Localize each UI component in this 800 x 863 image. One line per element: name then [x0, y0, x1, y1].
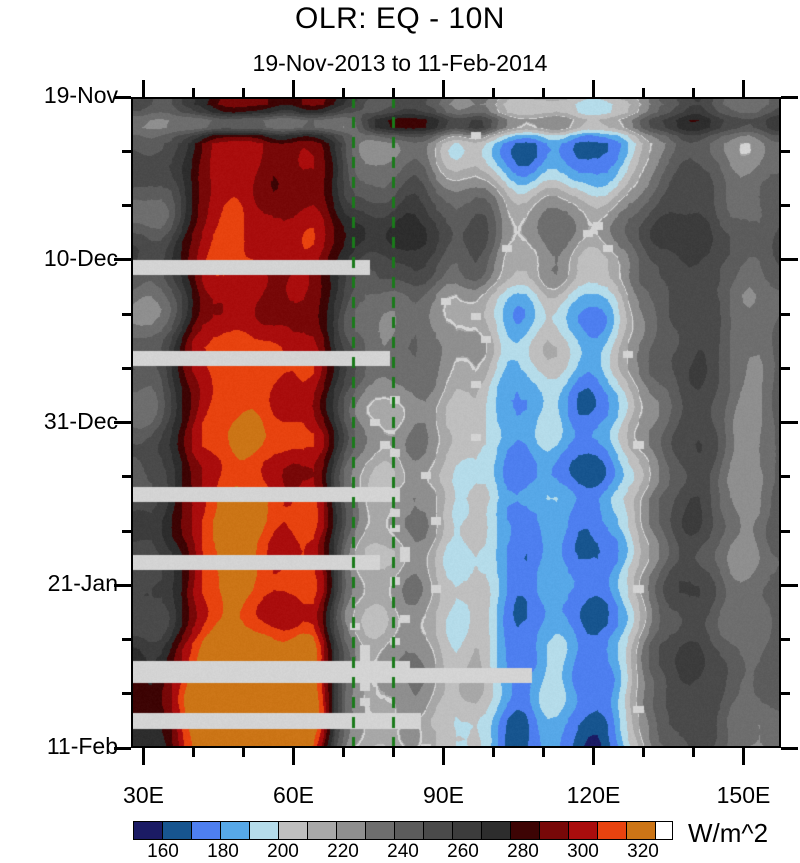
axis-tick [114, 584, 131, 587]
axis-tick [114, 747, 131, 750]
colorbar-cell[interactable] [568, 821, 598, 840]
x-axis-label: 90E [384, 782, 504, 809]
axis-tick [122, 475, 131, 478]
axis-tick [392, 88, 395, 97]
axis-tick [781, 584, 798, 587]
x-axis: 30E60E90E120E150E [0, 0, 800, 863]
axis-tick [142, 748, 145, 765]
axis-tick [781, 638, 790, 641]
axis-tick [114, 258, 131, 261]
axis-tick [342, 88, 345, 97]
axis-tick [781, 530, 790, 533]
colorbar-cell[interactable] [220, 821, 250, 840]
axis-tick [781, 692, 790, 695]
axis-tick [781, 150, 790, 153]
axis-tick [242, 88, 245, 97]
axis-tick [122, 313, 131, 316]
axis-tick [542, 748, 545, 757]
axis-tick [122, 150, 131, 153]
colorbar-cell[interactable] [278, 821, 308, 840]
axis-tick [592, 748, 595, 765]
axis-tick [592, 80, 595, 97]
axis-tick [292, 80, 295, 97]
axis-tick [242, 748, 245, 757]
axis-tick [781, 421, 798, 424]
axis-tick [292, 748, 295, 765]
colorbar-cell[interactable] [191, 821, 221, 840]
axis-tick [192, 88, 195, 97]
axis-tick [492, 88, 495, 97]
colorbar-cell[interactable] [481, 821, 511, 840]
colorbar[interactable] [133, 821, 673, 840]
x-axis-label: 30E [84, 782, 204, 809]
axis-tick [781, 475, 790, 478]
axis-tick [781, 313, 790, 316]
colorbar-cell[interactable] [510, 821, 540, 840]
axis-tick [781, 204, 790, 207]
colorbar-cell[interactable] [394, 821, 424, 840]
colorbar-cell[interactable] [133, 821, 163, 840]
axis-tick [642, 748, 645, 757]
colorbar-cell[interactable] [336, 821, 366, 840]
axis-tick [642, 88, 645, 97]
axis-tick [781, 747, 798, 750]
axis-tick [781, 96, 798, 99]
axis-tick [442, 80, 445, 97]
colorbar-tick-label: 320 [603, 841, 683, 863]
axis-tick [492, 748, 495, 757]
axis-tick [122, 367, 131, 370]
axis-tick [192, 748, 195, 757]
axis-tick [442, 748, 445, 765]
axis-tick [342, 748, 345, 757]
axis-tick [122, 530, 131, 533]
axis-tick [742, 80, 745, 97]
axis-tick [114, 96, 131, 99]
axis-tick [122, 638, 131, 641]
axis-tick [542, 88, 545, 97]
colorbar-units-label: W/m^2 [688, 818, 768, 849]
axis-tick [142, 80, 145, 97]
colorbar-cell[interactable] [423, 821, 453, 840]
x-axis-label: 60E [234, 782, 354, 809]
colorbar-cell[interactable] [307, 821, 337, 840]
colorbar-cell[interactable] [365, 821, 395, 840]
axis-tick [122, 204, 131, 207]
colorbar-cell[interactable] [452, 821, 482, 840]
x-axis-label: 120E [534, 782, 654, 809]
colorbar-cell[interactable] [539, 821, 569, 840]
axis-tick [692, 88, 695, 97]
axis-tick [392, 748, 395, 757]
x-axis-label: 150E [684, 782, 800, 809]
axis-tick [781, 367, 790, 370]
axis-tick [781, 258, 798, 261]
axis-tick [692, 748, 695, 757]
axis-tick [114, 421, 131, 424]
axis-tick [742, 748, 745, 765]
colorbar-cell[interactable] [162, 821, 192, 840]
colorbar-cell[interactable] [249, 821, 279, 840]
axis-tick [122, 692, 131, 695]
colorbar-cell[interactable] [597, 821, 627, 840]
colorbar-cell[interactable] [626, 821, 656, 840]
